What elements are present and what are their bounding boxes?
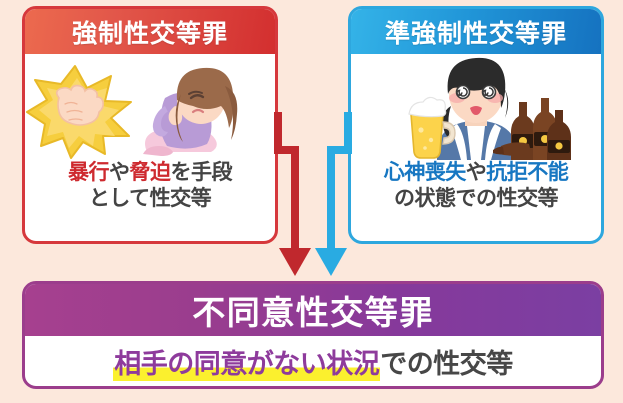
card-jun-kyosei-seiko: 準強制性交等罪: [348, 6, 604, 244]
card-left-body: 暴行や脅迫を手段 として性交等: [25, 54, 275, 241]
card-bottom-header: 不同意性交等罪: [25, 284, 601, 336]
card-right-emphasis-2: 抗拒不能: [486, 161, 568, 184]
card-right-header: 準強制性交等罪: [351, 9, 601, 54]
assault-illustration-svg: [25, 54, 275, 160]
card-left-caption-mid: や: [109, 161, 130, 184]
illustration-intoxication: [351, 54, 601, 160]
card-right-body: 心神喪失や抗拒不能 の状態での性交等: [351, 54, 601, 241]
card-right-caption-line2: の状態での性交等: [355, 186, 597, 212]
card-left-caption-line2: として性交等: [29, 186, 271, 212]
illustration-assault: [25, 54, 275, 160]
card-left-caption-post: を手段: [171, 161, 233, 184]
fist-icon: [57, 86, 103, 126]
card-left-emphasis-2: 脅迫: [130, 161, 171, 184]
card-left-caption-line1: 暴行や脅迫を手段: [29, 160, 271, 186]
arrow-blue-head: [315, 248, 347, 276]
card-left-emphasis-1: 暴行: [68, 161, 109, 184]
card-right-emphasis-1: 心神喪失: [384, 161, 466, 184]
card-left-header: 強制性交等罪: [25, 9, 275, 54]
card-bottom-caption: 相手の同意がない状況での性交等: [25, 336, 601, 386]
intoxication-illustration-svg: [351, 54, 601, 160]
card-right-caption-mid: や: [466, 161, 487, 184]
card-fudoi-seiko: 不同意性交等罪 相手の同意がない状況での性交等: [22, 281, 604, 389]
card-kyosei-seiko: 強制性交等罪: [22, 6, 278, 244]
card-left-caption: 暴行や脅迫を手段 として性交等: [25, 160, 275, 211]
infographic-root: 強制性交等罪: [0, 0, 623, 403]
arrow-red-head: [279, 248, 311, 276]
card-right-caption-line1: 心神喪失や抗拒不能: [355, 160, 597, 186]
card-right-caption: 心神喪失や抗拒不能 の状態での性交等: [351, 160, 601, 211]
crouching-woman-icon: [143, 68, 237, 156]
card-bottom-highlight: 相手の同意がない状況: [113, 342, 380, 381]
card-bottom-caption-rest: での性交等: [380, 342, 513, 381]
